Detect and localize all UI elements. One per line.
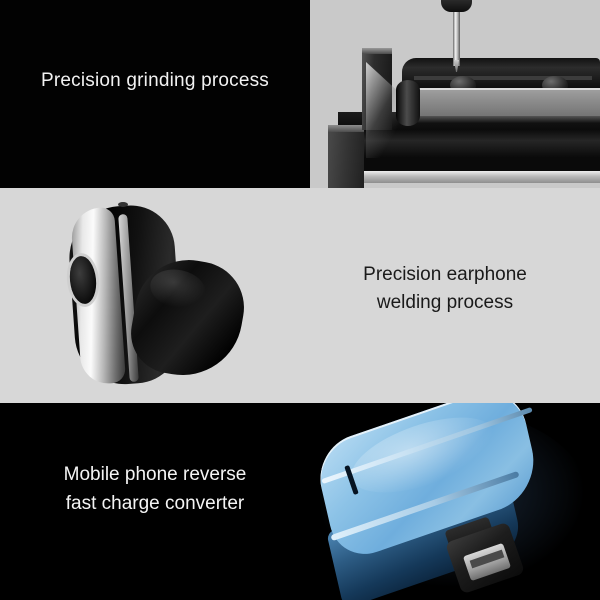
- converter-caption-line-1: Mobile phone reverse: [10, 460, 300, 489]
- panel-grinding-process: Precision grinding process: [0, 0, 600, 188]
- welding-caption: Precision earphone welding process: [300, 261, 590, 317]
- machine-drill-collar: [441, 0, 472, 12]
- earbud-illustration: [58, 200, 248, 395]
- welding-caption-line-2: welding process: [300, 289, 590, 317]
- earbud-microphone-hole: [118, 202, 128, 207]
- machine-bench-gap: [338, 158, 600, 171]
- grinding-caption-plate: [0, 0, 310, 188]
- converter-caption: Mobile phone reverse fast charge convert…: [10, 460, 300, 518]
- converter-caption-line-2: fast charge converter: [10, 489, 300, 518]
- machine-column-cap: [362, 48, 392, 54]
- panel-fast-charge-converter: Mobile phone reverse fast charge convert…: [0, 403, 600, 600]
- machine-aluminium-rail: [362, 171, 600, 183]
- grinding-machine-illustration: [310, 0, 600, 188]
- charging-case-illustration: [300, 403, 600, 600]
- product-infographic: Precision grinding process: [0, 0, 600, 600]
- machine-left-post-cap: [328, 125, 364, 132]
- machine-tray-shadow: [410, 116, 600, 123]
- grinding-caption: Precision grinding process: [0, 68, 310, 94]
- machine-hood: [402, 58, 600, 90]
- panel-welding-process: Precision earphone welding process: [0, 188, 600, 403]
- machine-roller-cylinder: [396, 80, 420, 126]
- welding-caption-line-1: Precision earphone: [300, 261, 590, 289]
- machine-left-post: [328, 130, 364, 188]
